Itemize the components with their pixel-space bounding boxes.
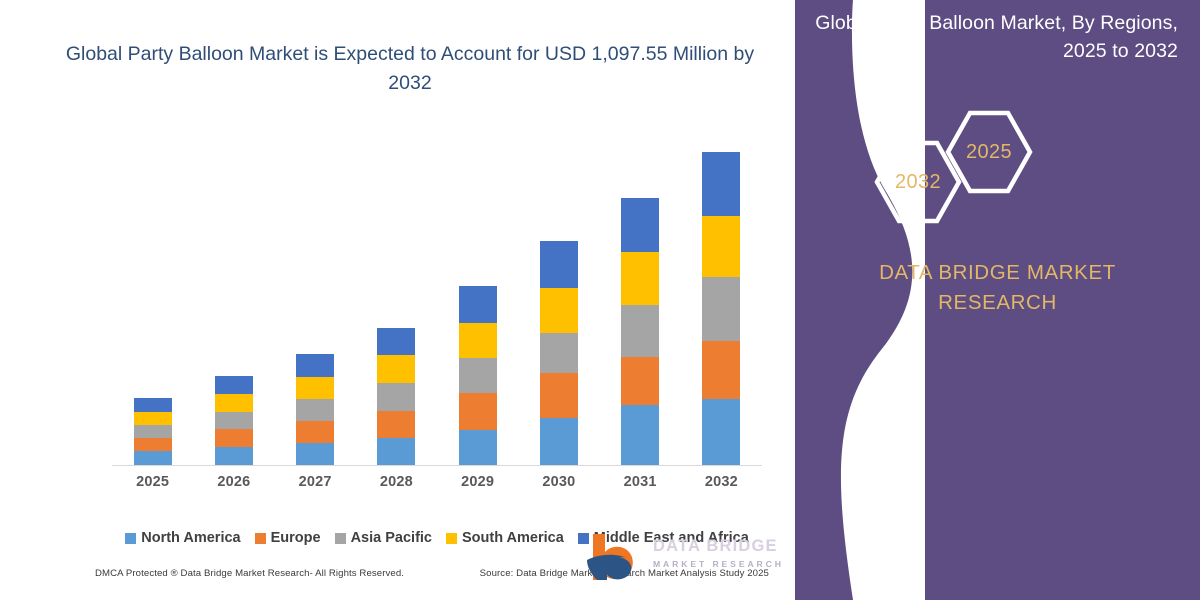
bar-segment xyxy=(702,399,740,465)
bar-segment xyxy=(459,358,497,393)
bar-segment xyxy=(296,443,334,465)
x-axis-tick-label: 2032 xyxy=(681,474,762,490)
x-axis-tick-label: 2030 xyxy=(518,474,599,490)
data-bridge-logo-icon xyxy=(585,532,647,582)
legend-label: South America xyxy=(462,530,564,546)
bar-column xyxy=(275,148,356,465)
x-axis-tick-label: 2026 xyxy=(193,474,274,490)
bar-segment xyxy=(621,405,659,465)
bar-segment xyxy=(377,328,415,355)
hexagon-2025: 2025 xyxy=(943,108,1035,196)
bar-segment xyxy=(702,277,740,341)
bar-segment xyxy=(540,333,578,373)
x-axis-tick-label: 2027 xyxy=(275,474,356,490)
bar-segment xyxy=(215,412,253,429)
bar-segment xyxy=(134,451,172,465)
bar-segment xyxy=(215,447,253,465)
bar-segment xyxy=(540,418,578,465)
legend-item[interactable]: South America xyxy=(446,530,564,546)
bar-segment xyxy=(215,394,253,412)
bar-stack xyxy=(215,376,253,465)
x-axis-tick-label: 2029 xyxy=(437,474,518,490)
bar-stack xyxy=(134,398,172,465)
bar-segment xyxy=(134,412,172,425)
bar-segment xyxy=(134,438,172,451)
logo-line-1: DATA BRIDGE xyxy=(653,536,785,557)
bar-column xyxy=(518,148,599,465)
bar-column xyxy=(681,148,762,465)
legend-label: North America xyxy=(141,530,240,546)
bar-column xyxy=(600,148,681,465)
bar-column xyxy=(112,148,193,465)
bar-segment xyxy=(377,411,415,438)
bar-segment xyxy=(134,398,172,412)
bar-segment xyxy=(621,252,659,305)
x-axis-line xyxy=(112,465,762,466)
bar-segment xyxy=(459,323,497,358)
legend-item[interactable]: North America xyxy=(125,530,240,546)
hexagon-2025-label: 2025 xyxy=(943,108,1035,196)
bar-segment xyxy=(540,241,578,288)
x-axis-tick-label: 2025 xyxy=(112,474,193,490)
bar-segment xyxy=(540,373,578,418)
side-panel: Global Party Balloon Market, By Regions,… xyxy=(795,0,1200,600)
legend-swatch-icon xyxy=(255,533,266,544)
bar-segment xyxy=(459,286,497,323)
footer-copyright: DMCA Protected ® Data Bridge Market Rese… xyxy=(95,568,404,579)
legend-item[interactable]: Asia Pacific xyxy=(335,530,432,546)
legend-label: Asia Pacific xyxy=(351,530,432,546)
bar-segment xyxy=(540,288,578,333)
bar-segment xyxy=(621,357,659,405)
legend-item[interactable]: Europe xyxy=(255,530,321,546)
x-axis-tick-label: 2031 xyxy=(600,474,681,490)
bar-segment xyxy=(702,216,740,277)
side-panel-title: Global Party Balloon Market, By Regions,… xyxy=(815,10,1178,65)
x-axis-labels: 20252026202720282029203020312032 xyxy=(112,474,762,490)
logo-wordmark: DATA BRIDGE MARKET RESEARCH xyxy=(653,536,785,569)
bar-segment xyxy=(296,399,334,421)
company-logo: DATA BRIDGE MARKET RESEARCH xyxy=(585,528,785,584)
bar-stack xyxy=(540,241,578,465)
bar-stack xyxy=(296,354,334,465)
infographic-canvas: Global Party Balloon Market is Expected … xyxy=(0,0,1200,600)
bar-series-group xyxy=(112,148,762,465)
bar-segment xyxy=(621,198,659,252)
bar-segment xyxy=(702,341,740,399)
bar-stack xyxy=(702,152,740,465)
bar-segment xyxy=(296,354,334,377)
brand-name: DATA BRIDGE MARKET RESEARCH xyxy=(825,258,1170,317)
bar-segment xyxy=(134,425,172,438)
chart-panel: Global Party Balloon Market is Expected … xyxy=(0,0,800,600)
chart-plot-area xyxy=(112,148,762,466)
bar-segment xyxy=(377,438,415,465)
bar-segment xyxy=(621,305,659,357)
legend-swatch-icon xyxy=(446,533,457,544)
bar-segment xyxy=(296,377,334,399)
bar-column xyxy=(356,148,437,465)
bar-segment xyxy=(377,383,415,411)
bar-segment xyxy=(215,376,253,394)
logo-line-2: MARKET RESEARCH xyxy=(653,559,785,569)
bar-column xyxy=(193,148,274,465)
legend-label: Europe xyxy=(271,530,321,546)
legend-swatch-icon xyxy=(125,533,136,544)
bar-column xyxy=(437,148,518,465)
bar-segment xyxy=(702,152,740,216)
bar-segment xyxy=(459,393,497,430)
legend-swatch-icon xyxy=(335,533,346,544)
bar-segment xyxy=(377,355,415,383)
bar-segment xyxy=(296,421,334,443)
bar-stack xyxy=(459,286,497,465)
bar-stack xyxy=(377,328,415,465)
hexagon-group: 2032 2025 xyxy=(860,108,1140,228)
x-axis-tick-label: 2028 xyxy=(356,474,437,490)
chart-title: Global Party Balloon Market is Expected … xyxy=(60,40,760,99)
bar-segment xyxy=(215,429,253,447)
bar-stack xyxy=(621,198,659,465)
bar-segment xyxy=(459,430,497,465)
